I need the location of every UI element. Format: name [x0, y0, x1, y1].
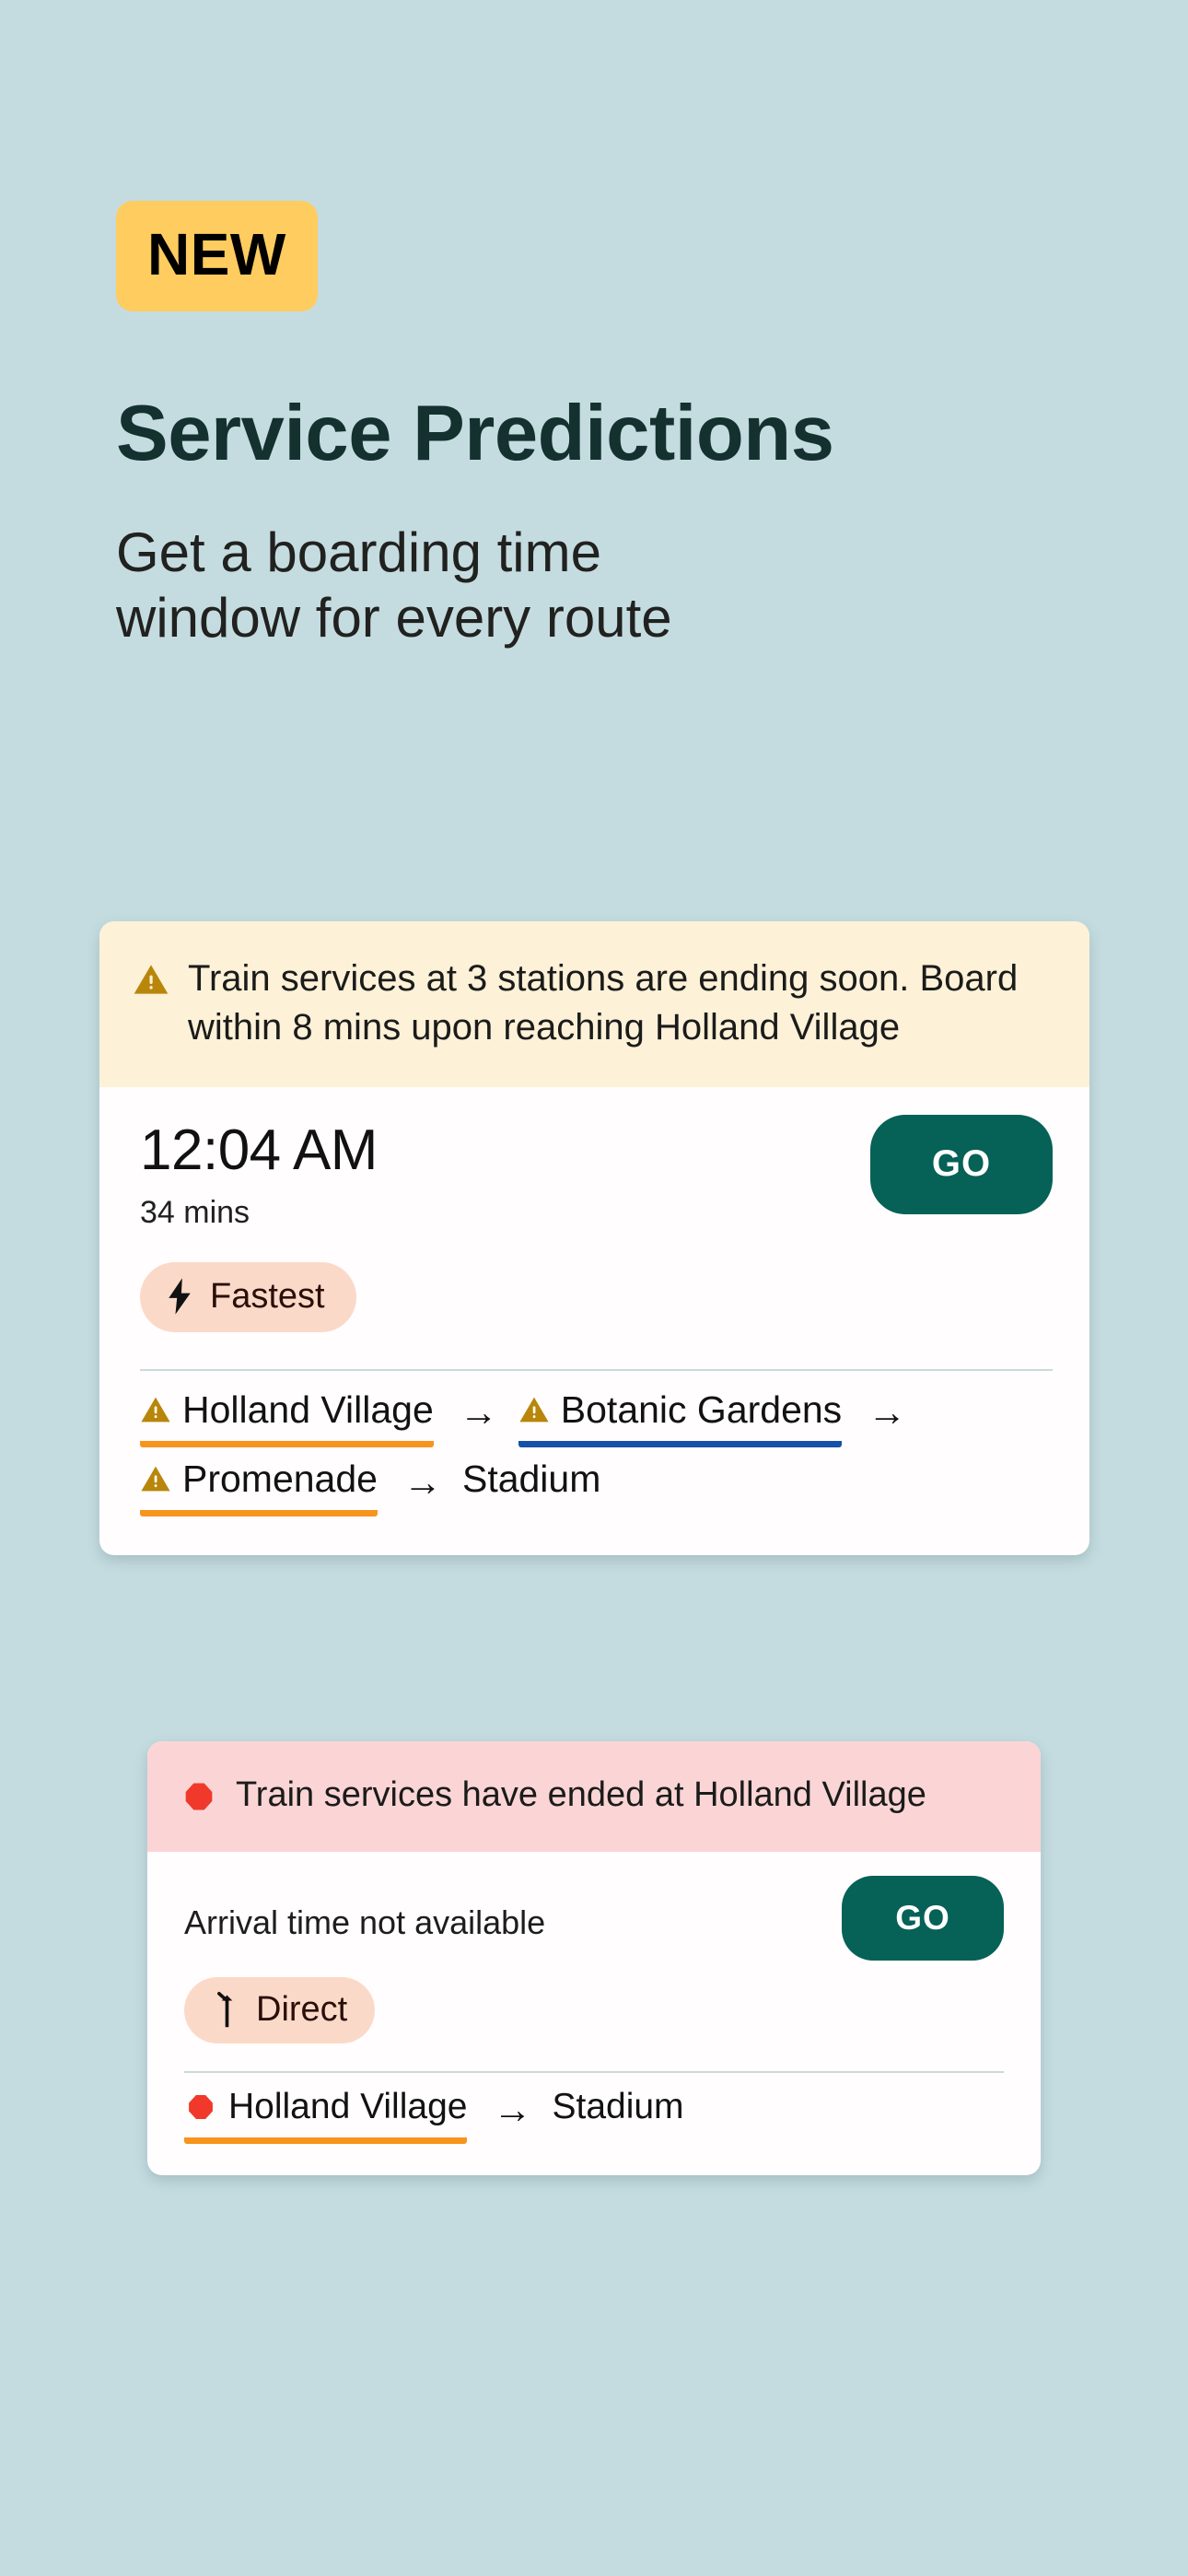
route-stop-label: Holland Village — [228, 2086, 467, 2128]
arrival-row: 12:04 AM 34 mins GO — [140, 1115, 1053, 1231]
route-stop[interactable]: Promenade — [140, 1457, 378, 1516]
service-warning-banner: Train services at 3 stations are ending … — [99, 921, 1089, 1087]
journey-duration: 34 mins — [140, 1195, 378, 1231]
warning-triangle-icon — [133, 961, 169, 998]
route-summary: Holland Village → Stadium — [184, 2086, 1004, 2144]
arrival-row: Arrival time not available GO — [184, 1876, 1004, 1961]
fastest-tag: Fastest — [140, 1262, 356, 1332]
journey-card-primary[interactable]: Train services at 3 stations are ending … — [99, 921, 1089, 1555]
lightning-bolt-icon — [166, 1277, 193, 1316]
arrival-time: 12:04 AM — [140, 1120, 378, 1180]
route-arrow-icon: → — [472, 2087, 552, 2129]
journey-card-body: Arrival time not available GO Direct Hol — [147, 1852, 1041, 2175]
page-subtitle: Get a boarding time window for every rou… — [116, 521, 982, 651]
warning-triangle-icon — [140, 1463, 171, 1494]
direct-tag: Direct — [184, 1977, 375, 2043]
service-ended-banner: Train services have ended at Holland Vil… — [147, 1741, 1041, 1852]
route-arrow-icon: → — [847, 1389, 926, 1432]
arrival-time-block: 12:04 AM 34 mins — [140, 1115, 378, 1231]
route-stop-label: Botanic Gardens — [561, 1388, 842, 1432]
route-arrow-icon: → — [383, 1459, 462, 1502]
route-stop-label: Holland Village — [182, 1388, 434, 1432]
warning-triangle-icon — [140, 1394, 171, 1425]
page-subtitle-line-1: Get a boarding time — [116, 521, 982, 586]
warning-triangle-icon — [518, 1394, 550, 1425]
go-button[interactable]: GO — [842, 1876, 1004, 1961]
direct-arrow-icon — [208, 1990, 239, 2029]
fastest-tag-label: Fastest — [210, 1279, 325, 1314]
card-divider — [184, 2071, 1004, 2073]
route-stop[interactable]: Botanic Gardens — [518, 1388, 842, 1447]
marketing-promo-screen: NEW Service Predictions Get a boarding t… — [0, 0, 1188, 2576]
go-button[interactable]: GO — [870, 1115, 1053, 1214]
direct-tag-label: Direct — [256, 1992, 347, 2027]
journey-card-body: 12:04 AM 34 mins GO Fastest — [99, 1087, 1089, 1556]
red-octagon-icon — [184, 2090, 217, 2124]
route-arrow-icon: → — [439, 1389, 518, 1432]
card-divider — [140, 1369, 1053, 1371]
red-octagon-icon — [181, 1778, 217, 1815]
page-subtitle-line-2: window for every route — [116, 586, 982, 651]
hero-section: NEW Service Predictions Get a boarding t… — [0, 0, 1188, 651]
arrival-time-unavailable: Arrival time not available — [184, 1876, 545, 1942]
route-stop-label: Promenade — [182, 1457, 378, 1501]
new-badge: NEW — [116, 201, 318, 311]
journey-card-secondary[interactable]: Train services have ended at Holland Vil… — [147, 1741, 1041, 2175]
route-stop[interactable]: Stadium — [552, 2086, 683, 2144]
service-warning-text: Train services at 3 stations are ending … — [188, 954, 1053, 1052]
page-title: Service Predictions — [116, 392, 1188, 474]
route-stop[interactable]: Holland Village — [140, 1388, 434, 1447]
route-stop-label: Stadium — [552, 2086, 683, 2128]
route-summary: Holland Village → Botanic Gardens → — [140, 1388, 1053, 1517]
route-stop-label: Stadium — [462, 1457, 600, 1501]
service-ended-text: Train services have ended at Holland Vil… — [236, 1774, 1004, 1817]
route-stop[interactable]: Stadium — [462, 1457, 600, 1516]
route-stop[interactable]: Holland Village — [184, 2086, 467, 2144]
